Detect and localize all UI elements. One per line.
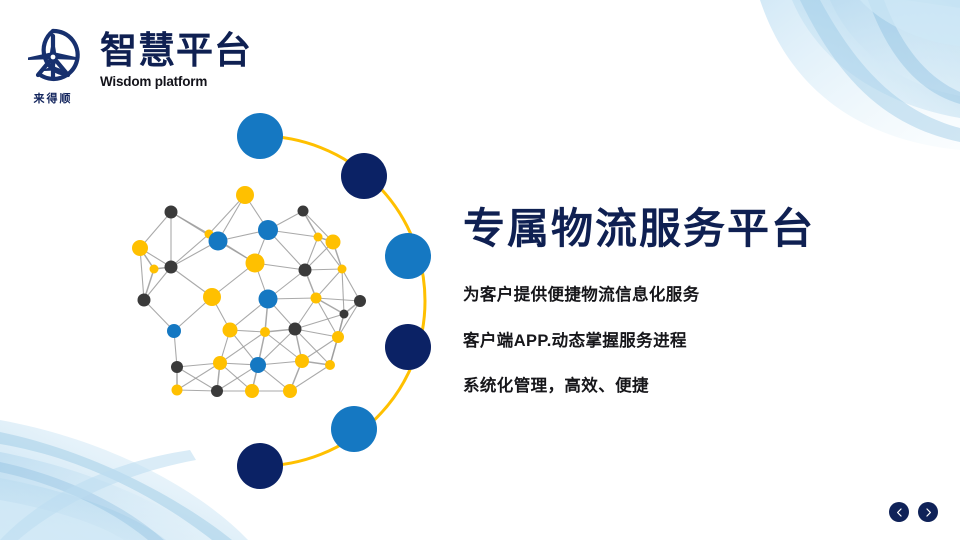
network-node xyxy=(332,331,344,343)
arc-node-3 xyxy=(385,233,431,279)
feature-line: 客户端APP.动态掌握服务进程 xyxy=(463,333,893,350)
network-node xyxy=(138,294,151,307)
network-graphic-svg xyxy=(120,95,450,495)
brand-text-block: 智慧平台 Wisdom platform xyxy=(100,26,252,89)
arc-node-5 xyxy=(331,406,377,452)
airplane-circle-emblem-icon xyxy=(22,26,84,86)
network-node xyxy=(289,323,302,336)
network-edge xyxy=(171,234,209,267)
network-node xyxy=(283,384,297,398)
network-node xyxy=(203,288,221,306)
network-edge xyxy=(316,269,342,298)
network-node xyxy=(223,323,238,338)
network-node xyxy=(209,232,228,251)
network-node xyxy=(298,206,309,217)
network-logistics-illustration xyxy=(120,95,450,495)
network-node xyxy=(295,354,309,368)
network-edge xyxy=(342,269,344,314)
network-node xyxy=(167,324,181,338)
network-node xyxy=(325,360,335,370)
network-edge xyxy=(177,390,217,391)
arc-node-2 xyxy=(341,153,387,199)
network-node xyxy=(150,265,159,274)
network-node xyxy=(314,233,323,242)
network-node xyxy=(259,290,278,309)
network-node xyxy=(165,206,178,219)
network-node xyxy=(326,235,341,250)
network-node xyxy=(340,310,349,319)
feature-line: 系统化管理，高效、便捷 xyxy=(463,378,893,395)
wave-top-right xyxy=(760,0,960,150)
network-edge xyxy=(177,367,217,391)
network-node xyxy=(311,293,322,304)
network-node-layer xyxy=(132,186,366,398)
network-node xyxy=(236,186,254,204)
chevron-right-icon xyxy=(924,508,933,517)
network-node xyxy=(260,327,270,337)
network-edge xyxy=(316,298,360,301)
network-edge xyxy=(295,314,344,329)
network-node xyxy=(299,264,312,277)
slide-root: 来得顺 智慧平台 Wisdom platform 专属物流服务平台 为客户提供便… xyxy=(0,0,960,540)
page-title: 专属物流服务平台 xyxy=(463,205,893,253)
network-node xyxy=(258,220,278,240)
network-node xyxy=(354,295,366,307)
brand-subtitle: Wisdom platform xyxy=(100,74,252,89)
arc-node-1 xyxy=(237,113,283,159)
prev-slide-button[interactable] xyxy=(889,502,909,522)
feature-list: 为客户提供便捷物流信息化服务客户端APP.动态掌握服务进程系统化管理，高效、便捷 xyxy=(463,287,893,395)
network-node xyxy=(338,265,347,274)
feature-line: 为客户提供便捷物流信息化服务 xyxy=(463,287,893,304)
next-slide-button[interactable] xyxy=(918,502,938,522)
network-edge xyxy=(338,301,360,337)
slide-navigation xyxy=(889,502,938,522)
brand-title: 智慧平台 xyxy=(100,32,252,71)
network-node xyxy=(246,254,265,273)
network-node xyxy=(132,240,148,256)
brand-logo-caption: 来得顺 xyxy=(22,93,84,104)
network-node xyxy=(171,361,183,373)
network-node xyxy=(250,357,266,373)
arc-node-6 xyxy=(237,443,283,489)
network-node xyxy=(172,385,183,396)
network-node xyxy=(213,356,227,370)
network-node xyxy=(245,384,259,398)
chevron-left-icon xyxy=(895,508,904,517)
network-edge xyxy=(177,363,220,390)
main-copy-block: 专属物流服务平台 为客户提供便捷物流信息化服务客户端APP.动态掌握服务进程系统… xyxy=(463,205,893,395)
arc-node-4 xyxy=(385,324,431,370)
network-node xyxy=(165,261,178,274)
brand-lockup: 来得顺 智慧平台 Wisdom platform xyxy=(22,26,252,104)
brand-logo: 来得顺 xyxy=(22,26,84,104)
network-node xyxy=(211,385,223,397)
